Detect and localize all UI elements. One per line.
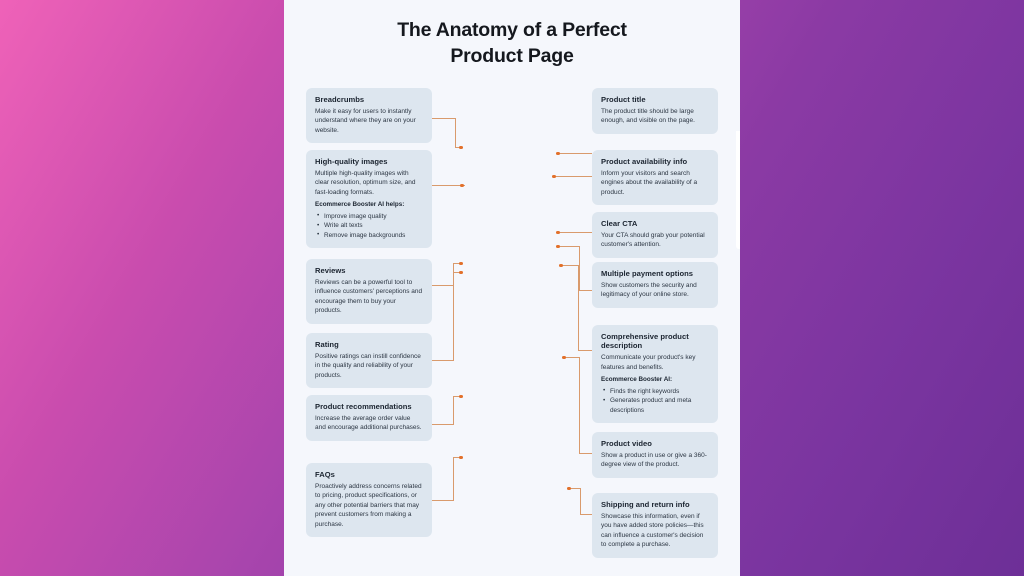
card-body: Positive ratings can instill confidence … (315, 352, 423, 380)
card-title: Reviews (315, 266, 423, 275)
connector-payment-v (579, 246, 580, 290)
card-shipping-return[interactable]: Shipping and return info Showcase this i… (592, 493, 718, 558)
card-title: High-quality images (315, 157, 423, 166)
connector-availability (554, 176, 592, 177)
card-body: Your CTA should grab your potential cust… (601, 231, 709, 250)
card-body: Reviews can be a powerful tool to influe… (315, 278, 423, 316)
card-body: Increase the average order value and enc… (315, 414, 423, 433)
connector-dot-images (460, 184, 464, 188)
connector-rating (432, 360, 454, 361)
connector-dot-rating (459, 271, 463, 275)
card-body: Make it easy for users to instantly unde… (315, 107, 423, 135)
card-title: Product availability info (601, 157, 709, 166)
connector-dot-video (562, 356, 566, 360)
card-subtitle: Ecommerce Booster AI: (601, 376, 709, 384)
card-title: Product video (601, 439, 709, 448)
connector-breadcrumbs-v (455, 118, 456, 148)
connector-dot-cta (556, 231, 560, 235)
card-title: Product recommendations (315, 402, 423, 411)
list-item: Write alt texts (315, 221, 423, 231)
connector-payment (558, 246, 580, 247)
card-clear-cta[interactable]: Clear CTA Your CTA should grab your pote… (592, 212, 718, 258)
card-body: Proactively address concerns related to … (315, 482, 423, 529)
connector-video-h2 (579, 453, 592, 454)
card-body: Show a product in use or give a 360-degr… (601, 451, 709, 470)
card-payment-options[interactable]: Multiple payment options Show customers … (592, 262, 718, 308)
connector-shipping-v (580, 488, 581, 515)
page-title-line2: Product Page (284, 44, 740, 70)
connector-faqs-v (453, 457, 454, 501)
card-faqs[interactable]: FAQs Proactively address concerns relate… (306, 463, 432, 537)
card-product-availability[interactable]: Product availability info Inform your vi… (592, 150, 718, 205)
browser-page (736, 131, 740, 249)
card-high-quality-images[interactable]: High-quality images Multiple high-qualit… (306, 150, 432, 248)
connector-dot-recommendations (459, 395, 463, 399)
connector-dot-breadcrumbs (459, 146, 463, 150)
card-title: FAQs (315, 470, 423, 479)
card-title: Comprehensive product description (601, 332, 709, 351)
connector-dot-faqs (459, 456, 463, 460)
connector-payment-h2 (579, 290, 592, 291)
connector-product-title (558, 153, 592, 154)
card-product-recommendations[interactable]: Product recommendations Increase the ave… (306, 395, 432, 441)
connector-dot-availability (552, 175, 556, 179)
connector-dot-product-title (556, 152, 560, 156)
card-body: The product title should be large enough… (601, 107, 709, 126)
connector-breadcrumbs (432, 118, 456, 119)
connector-dot-payment (556, 245, 560, 249)
connector-description-h2 (578, 350, 592, 351)
connector-recommendations (432, 424, 454, 425)
connector-rating-v (453, 272, 454, 361)
infographic-canvas: The Anatomy of a Perfect Product Page (284, 0, 740, 576)
connector-description-v (578, 265, 579, 350)
page-title-line1: The Anatomy of a Perfect (284, 18, 740, 44)
connector-cta (558, 232, 592, 233)
card-rating[interactable]: Rating Positive ratings can instill conf… (306, 333, 432, 388)
card-product-description[interactable]: Comprehensive product description Commun… (592, 325, 718, 423)
list-item: Finds the right keywords (601, 387, 709, 397)
card-body: Showcase this information, even if you h… (601, 512, 709, 550)
connector-faqs (432, 500, 454, 501)
list-item: Generates product and meta descriptions (601, 396, 709, 415)
card-title: Product title (601, 95, 709, 104)
connector-shipping-h2 (580, 514, 592, 515)
connector-dot-description (559, 264, 563, 268)
card-body: Multiple high-quality images with clear … (315, 169, 423, 197)
card-title: Multiple payment options (601, 269, 709, 278)
card-bullet-list: Improve image quality Write alt texts Re… (315, 212, 423, 241)
page-title: The Anatomy of a Perfect Product Page (284, 18, 740, 69)
connector-reviews (432, 285, 454, 286)
connector-recommendations-v (453, 396, 454, 425)
card-body: Show customers the security and legitima… (601, 281, 709, 300)
list-item: Remove image backgrounds (315, 231, 423, 241)
card-subtitle: Ecommerce Booster AI helps: (315, 201, 423, 209)
connector-dot-shipping (567, 487, 571, 491)
card-title: Clear CTA (601, 219, 709, 228)
connector-video (564, 357, 580, 358)
card-reviews[interactable]: Reviews Reviews can be a powerful tool t… (306, 259, 432, 324)
connector-video-v (579, 357, 580, 453)
card-body: Inform your visitors and search engines … (601, 169, 709, 197)
card-product-title[interactable]: Product title The product title should b… (592, 88, 718, 134)
card-product-video[interactable]: Product video Show a product in use or g… (592, 432, 718, 478)
list-item: Improve image quality (315, 212, 423, 222)
product-page-mockup: ★★★★★ In Stock $ XX.XX BUY NOW PayBtn ca… (732, 112, 740, 494)
card-title: Breadcrumbs (315, 95, 423, 104)
card-title: Shipping and return info (601, 500, 709, 509)
card-title: Rating (315, 340, 423, 349)
card-body: Communicate your product's key features … (601, 353, 709, 372)
connector-dot-reviews (459, 262, 463, 266)
connector-description (561, 265, 579, 266)
card-bullet-list: Finds the right keywords Generates produ… (601, 387, 709, 416)
card-breadcrumbs[interactable]: Breadcrumbs Make it easy for users to in… (306, 88, 432, 143)
